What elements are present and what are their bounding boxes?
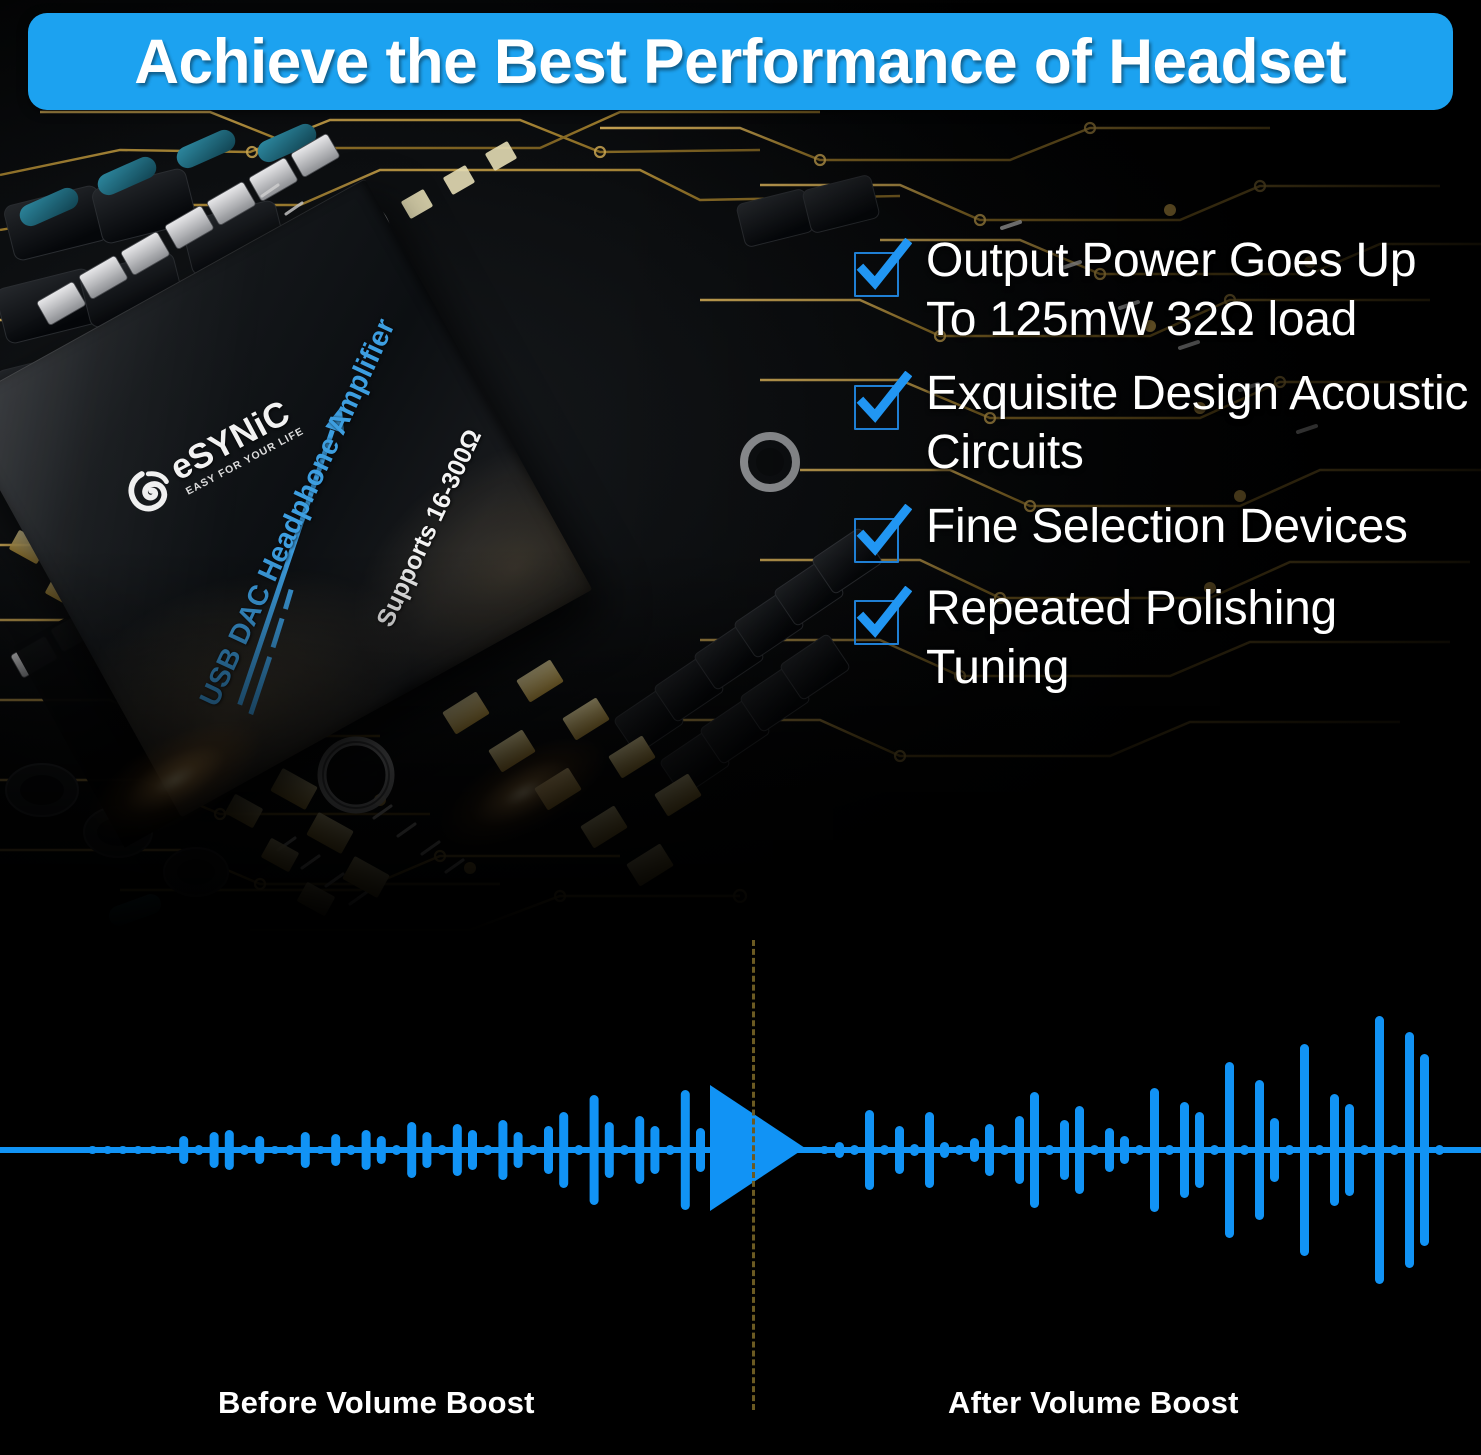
waveform-bar [1015,1116,1024,1184]
waveform-bar [559,1112,568,1188]
checkbox-checked-icon [852,512,904,564]
waveform-comparison [0,935,1481,1455]
waveform-bar [1210,1145,1219,1155]
waveform-bar [498,1120,507,1180]
waveform-bar [1045,1145,1054,1155]
waveform-bar [544,1126,553,1174]
waveform-bar [1285,1145,1294,1155]
waveform-bar [1360,1145,1369,1155]
waveform-bar [1270,1118,1279,1182]
feature-item-exquisite-design: Exquisite Design Acoustic Circuits [852,365,1472,482]
waveform-bar [820,1146,829,1154]
feature-label: Exquisite Design Acoustic Circuits [926,365,1471,482]
waveform-bar [270,1146,279,1154]
waveform-bar [1435,1145,1444,1155]
after-caption: After Volume Boost [948,1385,1239,1421]
waveform-bar [1240,1145,1249,1155]
waveform-bar [225,1130,234,1170]
page-title: Achieve the Best Performance of Headset [134,26,1346,98]
waveform-bar [925,1112,934,1188]
waveform-bar [149,1146,158,1154]
feature-label: Output Power Goes Up To 125mW 32Ω load [926,232,1471,349]
waveform-bar [422,1132,431,1168]
waveform-bar [392,1145,401,1155]
waveform-bar [696,1128,705,1172]
waveform-bar [620,1145,629,1155]
waveform-bar [1180,1102,1189,1198]
header-banner: Achieve the Best Performance of Headset [28,13,1453,110]
waveform-bar [438,1145,447,1155]
waveform-bar [1105,1128,1114,1172]
waveform-bar [1300,1044,1309,1256]
waveform-bar [407,1122,416,1178]
waveform-bar [895,1126,904,1174]
waveform-bar [240,1145,249,1155]
waveform-bar [880,1145,889,1155]
checkbox-checked-icon [852,379,904,431]
waveform-bar [970,1138,979,1162]
waveform-bar [835,1142,844,1158]
waveform-bar [1330,1094,1339,1206]
waveform-bar [1030,1092,1039,1208]
waveform-bar [286,1145,295,1155]
feature-label: Fine Selection Devices [926,498,1408,557]
waveform-bar [1315,1145,1324,1155]
waveform-bar [590,1095,599,1205]
waveform-bar [1150,1088,1159,1212]
waveform-bar [255,1136,264,1164]
waveform-bar [1345,1104,1354,1196]
feature-item-output-power: Output Power Goes Up To 125mW 32Ω load [852,232,1472,349]
waveform-bar [574,1145,583,1155]
promo-graphic: eSYNiC EASY FOR YOUR LIFE USB DAC Headph… [0,0,1481,1455]
waveform-bar [1135,1145,1144,1155]
waveform-bar [940,1142,949,1158]
waveform-bar [453,1124,462,1176]
waveform-bar [103,1146,112,1154]
waveform-bar [1225,1062,1234,1238]
waveform-bar [985,1124,994,1176]
waveform-bar [650,1126,659,1174]
waveform-bar [1255,1080,1264,1220]
waveform-chart [0,935,1481,1455]
comparison-divider [752,940,755,1410]
waveform-bar [377,1136,386,1164]
waveform-bar [1060,1120,1069,1180]
waveform-bar [118,1146,127,1154]
waveform-bar [1075,1106,1084,1194]
waveform-bar [1390,1145,1399,1155]
waveform-bar [605,1122,614,1178]
checkbox-checked-icon [852,594,904,646]
waveform-bar [666,1145,675,1155]
waveform-bar [850,1145,859,1155]
waveform-bar [331,1134,340,1166]
play-triangle-right-icon [710,1085,805,1211]
waveform-bar [362,1130,371,1170]
checkbox-checked-icon [852,246,904,298]
feature-item-fine-selection: Fine Selection Devices [852,498,1472,564]
waveform-bar [210,1132,219,1168]
waveform-bar [88,1146,97,1154]
waveform-bar [955,1145,964,1155]
before-caption: Before Volume Boost [218,1385,535,1421]
waveform-bar [635,1116,644,1184]
waveform-bar [529,1145,538,1155]
waveform-bar [865,1110,874,1190]
waveform-bar [681,1090,690,1210]
feature-list: Output Power Goes Up To 125mW 32Ω load E… [852,232,1472,713]
waveform-bar [1420,1054,1429,1246]
waveform-bar [1405,1032,1414,1268]
waveform-bar [1120,1136,1129,1164]
waveform-bar [1375,1016,1384,1284]
waveform-bar [346,1145,355,1155]
waveform-bar [1195,1112,1204,1188]
waveform-bar [194,1145,203,1155]
waveform-bar [910,1144,919,1156]
waveform-bar [468,1130,477,1170]
waveform-bar [1165,1145,1174,1155]
waveform-bar [134,1146,143,1154]
waveform-bar [179,1136,188,1164]
waveform-bar [483,1145,492,1155]
feature-label: Repeated Polishing Tuning [926,580,1471,697]
waveform-bar [301,1132,310,1168]
feature-item-repeated-polishing: Repeated Polishing Tuning [852,580,1472,697]
waveform-bar [1090,1145,1099,1155]
waveform-bar [514,1132,523,1168]
waveform-bar [316,1146,325,1154]
waveform-bar [164,1146,173,1154]
waveform-bar [1000,1145,1009,1155]
